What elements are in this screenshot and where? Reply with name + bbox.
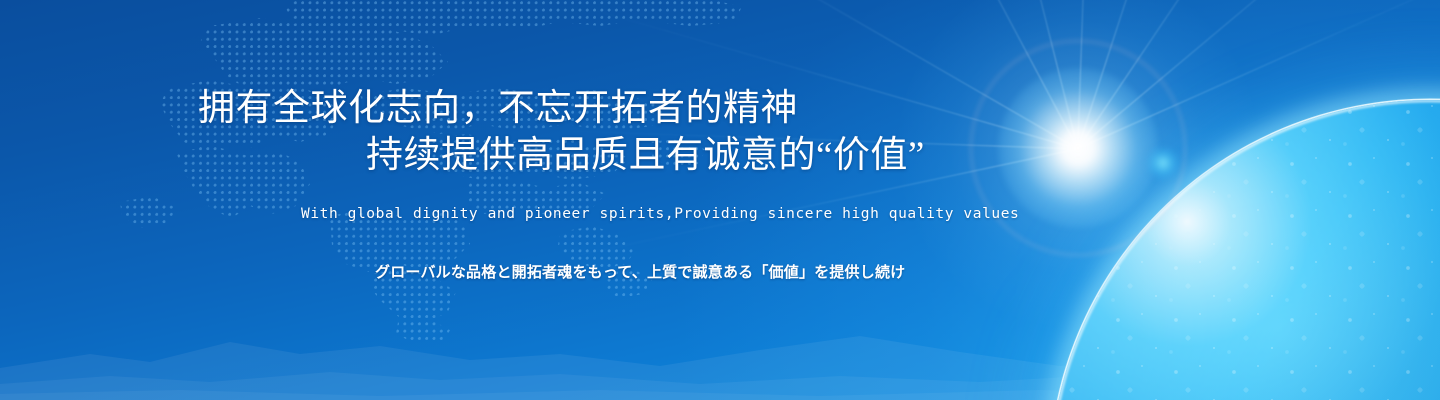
headline-line-1: 拥有全球化志向，不忘开拓者的精神 xyxy=(198,90,798,127)
flare-ray xyxy=(1078,0,1440,149)
planet-terminator-shading xyxy=(1050,100,1440,400)
planet-rim-glow xyxy=(1044,94,1440,400)
flare-ray xyxy=(1077,0,1369,149)
planet-limb-highlight xyxy=(1050,100,1440,400)
planet-surface-texture xyxy=(1050,100,1440,400)
flare-ray xyxy=(1077,0,1239,149)
headline-line-2: 持续提供高品质且有诚意的“价值” xyxy=(366,137,925,174)
subtitle-japanese: グローバルな品格と開拓者魂をもって、上質で誠意ある「価値」を提供し続け xyxy=(375,261,905,282)
lens-flare-orb xyxy=(1146,146,1180,180)
subtitle-english: With global dignity and pioneer spirits,… xyxy=(301,206,1019,222)
planet-body xyxy=(1050,100,1440,400)
hero-banner: 拥有全球化志向，不忘开拓者的精神 持续提供高品质且有诚意的“价值” With g… xyxy=(0,0,1440,400)
flare-ray xyxy=(1078,0,1440,149)
banner-copy: 拥有全球化志向，不忘开拓者的精神 持续提供高品质且有诚意的“价值” With g… xyxy=(0,0,1100,400)
